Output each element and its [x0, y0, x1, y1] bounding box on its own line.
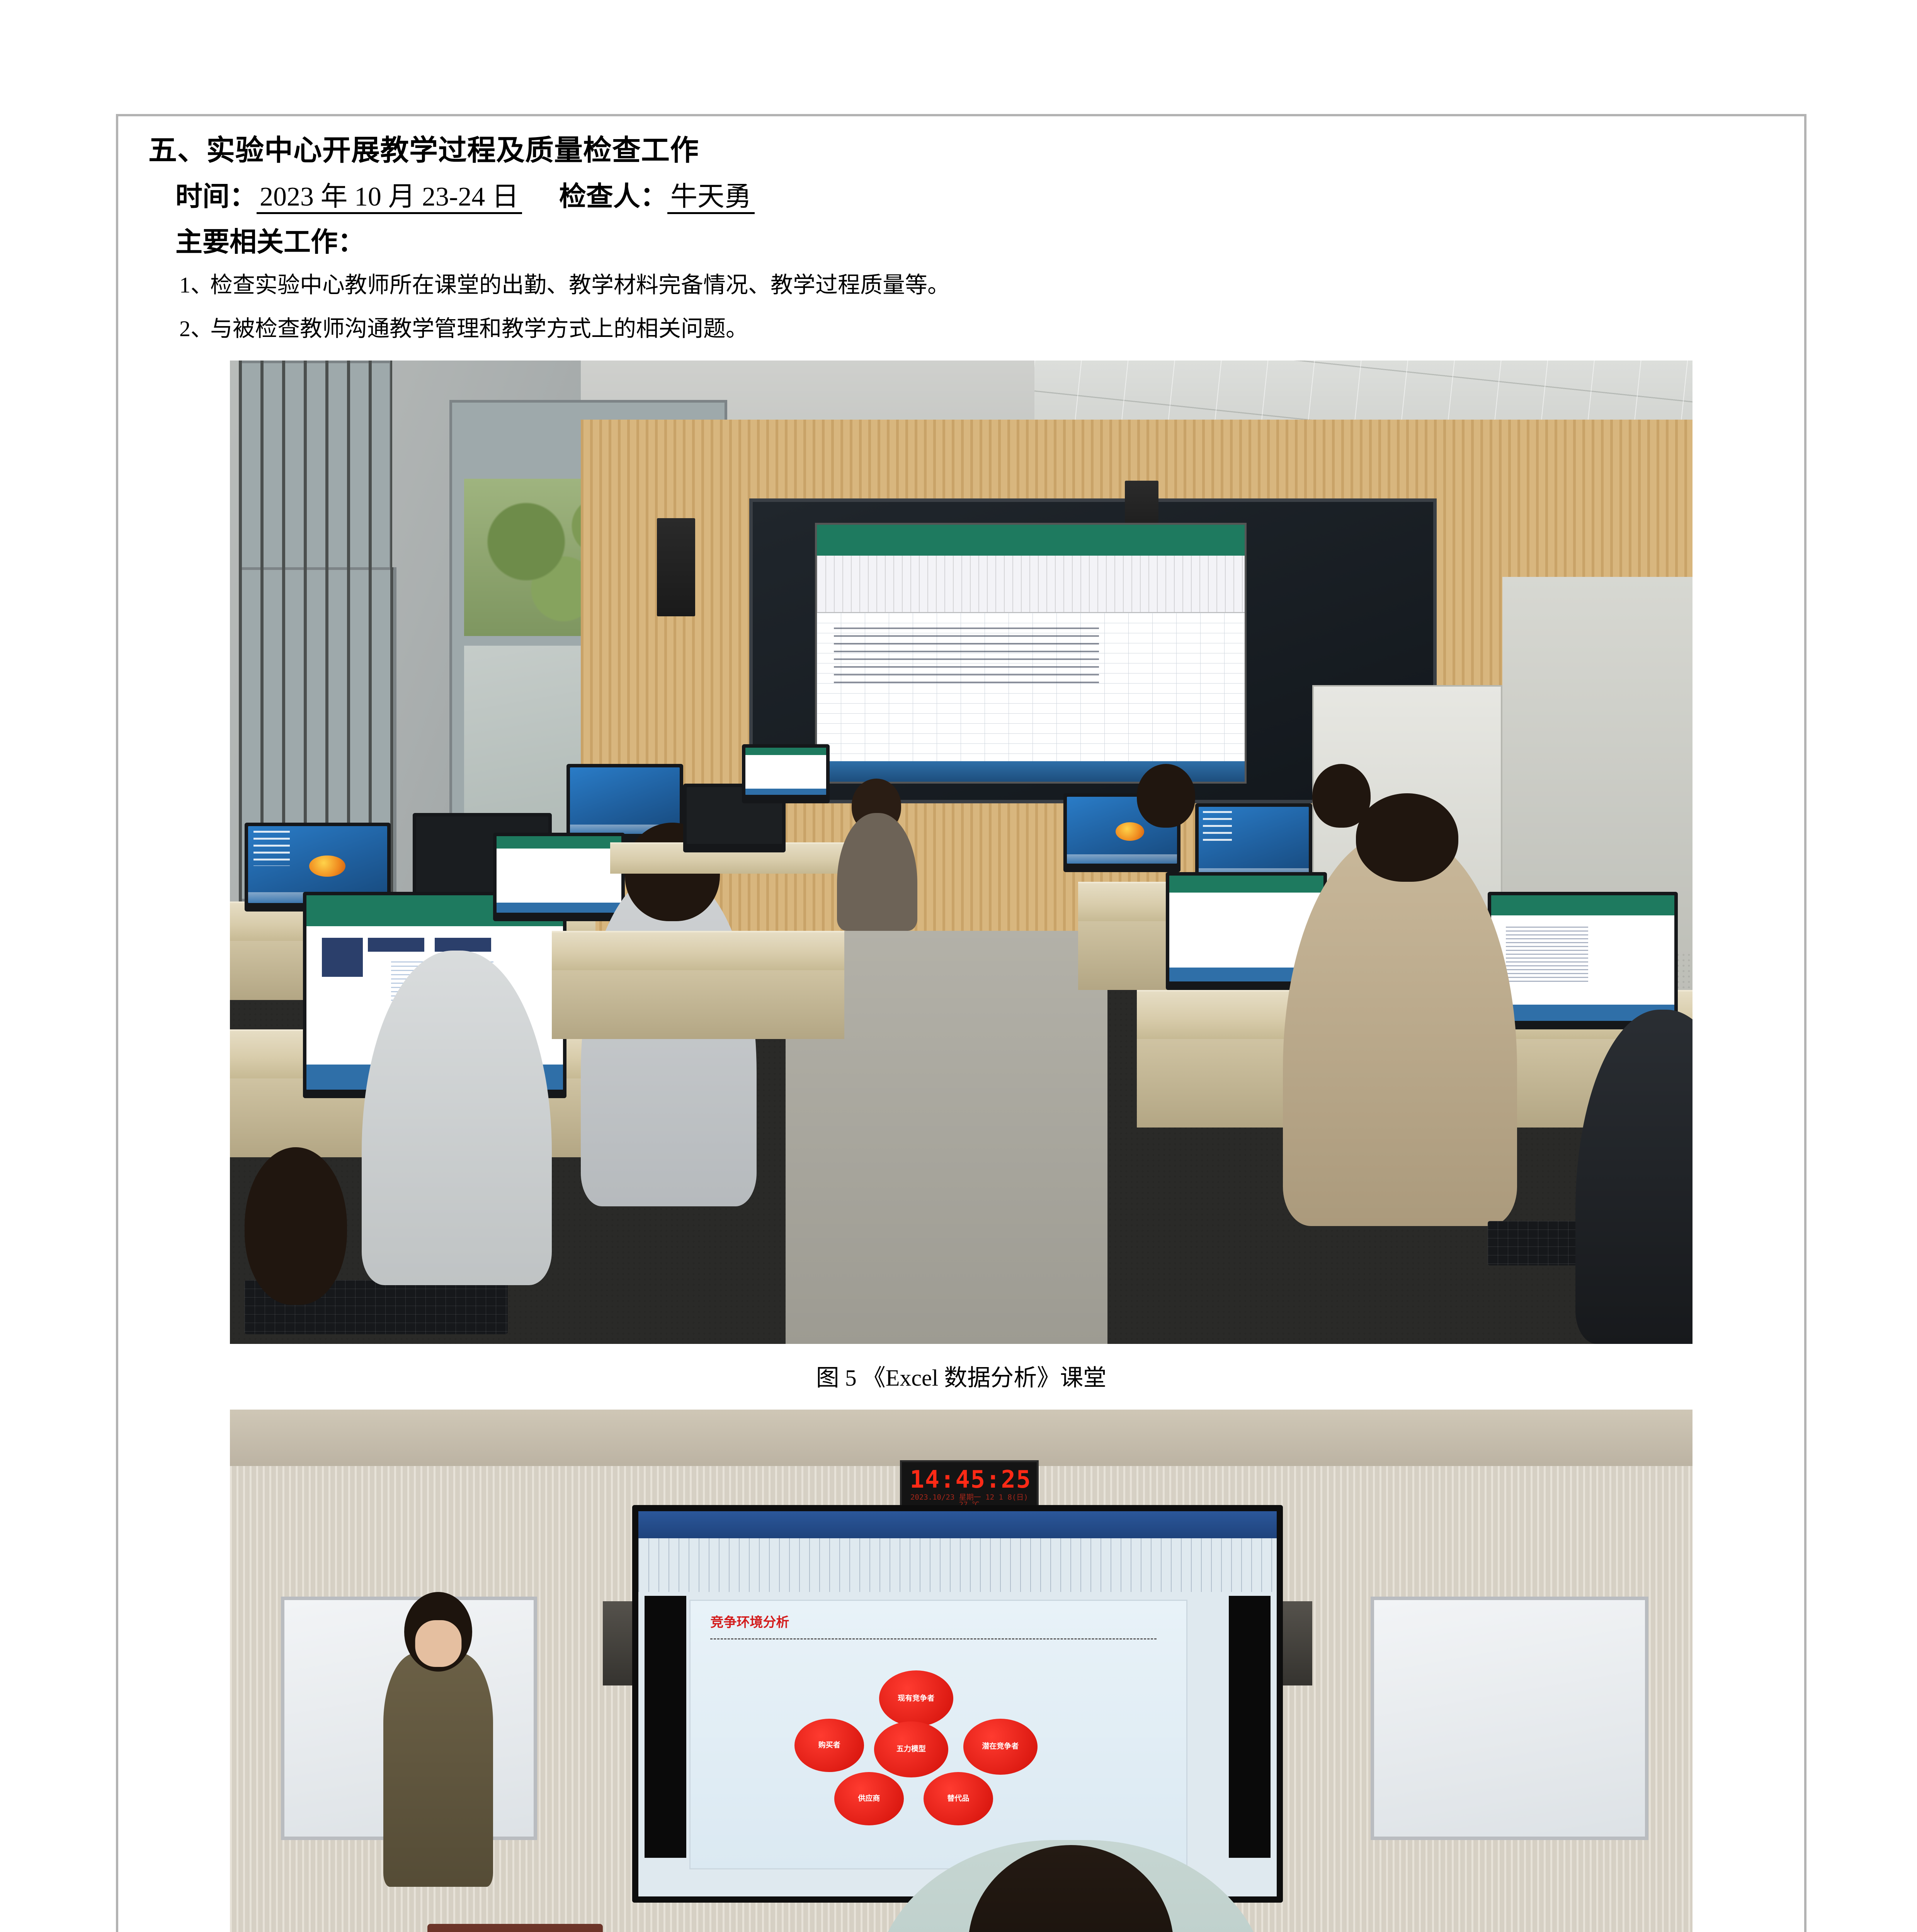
monitor [493, 833, 625, 921]
student-head [1137, 764, 1195, 828]
excel-ribbon [817, 556, 1245, 613]
black-bar-right [1229, 1596, 1270, 1858]
projector-screen [815, 523, 1247, 783]
ppt-slide: 竞争环境分析 现有竞争者 潜在竞争者 替代品 供应商 购买者 五力模型 [689, 1600, 1187, 1869]
list-item: 2、 与被检查教师沟通教学管理和教学方式上的相关问题。 [145, 315, 1777, 343]
student-head [968, 1845, 1174, 1932]
time-label: 时间： [175, 180, 257, 213]
monitor-screen [745, 748, 826, 795]
force-node-existing-competitors: 现有竞争者 [879, 1670, 953, 1726]
work-item-list: 1、 检查实验中心教师所在课堂的出勤、教学材料完备情况、教学过程质量等。 2、 … [145, 271, 1777, 343]
monitor-screen [1199, 807, 1309, 878]
force-node-center: 五力模型 [874, 1721, 948, 1777]
monitor-screen [497, 836, 621, 913]
force-node-substitutes: 替代品 [924, 1772, 993, 1825]
figure-6: 14:45:25 2023.10/23 星期一 12 1 8(日) 27 ℃ 竞… [145, 1410, 1777, 1932]
slide-divider [710, 1638, 1157, 1639]
computer-lab-photo [230, 361, 1692, 1344]
excel-title-bar [817, 525, 1245, 556]
list-item-text: 检查实验中心教师所在课堂的出勤、教学材料完备情况、教学过程质量等。 [210, 272, 950, 298]
force-node-buyers: 购买者 [794, 1719, 864, 1772]
inspector-label: 检查人： [559, 180, 667, 213]
monitor [1488, 892, 1678, 1029]
inspector-value: 牛天勇 [667, 184, 755, 214]
document-page: 五、实验中心开展教学过程及质量检查工作 时间： 2023 年 10 月 23-2… [116, 114, 1806, 1932]
digital-clock: 14:45:25 2023.10/23 星期一 12 1 8(日) 27 ℃ [900, 1460, 1039, 1511]
desktop-icons [1203, 811, 1232, 844]
force-node-suppliers: 供应商 [834, 1772, 904, 1825]
force-node-potential-competitors: 潜在竞争者 [963, 1719, 1038, 1775]
teacher-figure [383, 1653, 493, 1887]
word-ribbon [638, 1538, 1277, 1592]
student-head [1356, 793, 1458, 882]
figure-6-image: 14:45:25 2023.10/23 星期一 12 1 8(日) 27 ℃ 竞… [230, 1410, 1692, 1932]
monitor [742, 744, 830, 803]
clock-info: 2023.10/23 星期一 12 1 8(日) 27 ℃ [907, 1494, 1031, 1506]
lecture-room-photo: 14:45:25 2023.10/23 星期一 12 1 8(日) 27 ℃ 竞… [230, 1410, 1692, 1932]
monitor-screen [248, 826, 388, 903]
smart-display: 竞争环境分析 现有竞争者 潜在竞争者 替代品 供应商 购买者 五力模型 [632, 1505, 1283, 1903]
monitor-screen [1491, 895, 1674, 1021]
desktop-icons [253, 831, 290, 866]
desk [552, 931, 844, 972]
display-screen: 竞争环境分析 现有竞争者 潜在竞争者 替代品 供应商 购买者 五力模型 [638, 1511, 1277, 1896]
excel-data-rows [834, 628, 1099, 684]
windows-logo-icon [309, 855, 345, 877]
black-bar-left [645, 1596, 686, 1858]
work-heading: 主要相关工作： [175, 226, 1777, 258]
teacher-face [415, 1620, 461, 1667]
slide-title: 竞争环境分析 [710, 1612, 789, 1631]
page-title: 五、实验中心开展教学过程及质量检查工作 [148, 133, 1777, 167]
desk-side [552, 970, 844, 1039]
meta-row: 时间： 2023 年 10 月 23-24 日 检查人： 牛天勇 [175, 180, 1777, 214]
clock-time: 14:45:25 [910, 1468, 1029, 1495]
time-value: 2023 年 10 月 23-24 日 [257, 184, 522, 214]
figure-5-caption: 图 5 《Excel 数据分析》课堂 [145, 1364, 1777, 1392]
student-head [245, 1147, 347, 1304]
page-content: 五、实验中心开展教学过程及质量检查工作 时间： 2023 年 10 月 23-2… [118, 116, 1804, 1932]
figure-5: 图 5 《Excel 数据分析》课堂 [145, 361, 1777, 1392]
speaker-icon [657, 518, 695, 617]
list-item-text: 与被检查教师沟通教学管理和教学方式上的相关问题。 [210, 316, 748, 341]
list-item-number: 1、 [179, 271, 213, 299]
whiteboard-right [1371, 1597, 1648, 1840]
list-item-number: 2、 [179, 315, 213, 343]
figure-5-image [230, 361, 1692, 1344]
word-title-bar [638, 1511, 1277, 1538]
list-item: 1、 检查实验中心教师所在课堂的出勤、教学材料完备情况、教学过程质量等。 [145, 271, 1777, 299]
windows-logo-icon [1116, 822, 1144, 841]
lectern [427, 1924, 603, 1932]
